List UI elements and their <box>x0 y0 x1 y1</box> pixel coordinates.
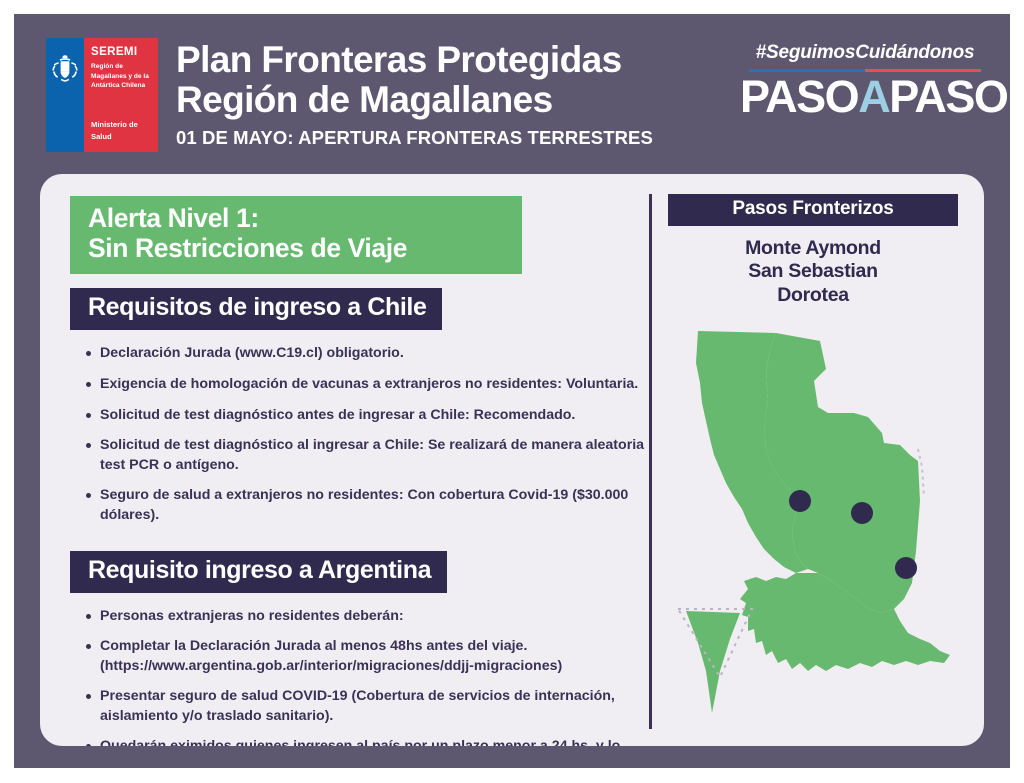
logo-ministry-name: Ministerio de Salud <box>91 119 159 142</box>
campaign-wordmark: PASOAPASO <box>740 74 990 119</box>
list-item: Presentar seguro de salud COVID-19 (Cobe… <box>86 687 646 726</box>
header: SEREMI Región de Magallanes y de la Antá… <box>14 14 1010 166</box>
logo-org-name: SEREMI <box>91 46 138 58</box>
list-item: Declaración Jurada (www.C19.cl) obligato… <box>86 344 646 364</box>
flag-blue-panel <box>46 38 84 152</box>
flag-red-panel: SEREMI Región de Magallanes y de la Antá… <box>84 38 158 152</box>
argentina-section-title: Requisito ingreso a Argentina <box>88 556 431 584</box>
crossings-header: Pasos Fronterizos <box>668 194 958 226</box>
marker-dorotea <box>895 557 917 579</box>
crossings-list: Monte Aymond San Sebastian Dorotea <box>668 237 958 307</box>
chile-section-header: Requisitos de ingreso a Chile <box>70 288 442 330</box>
list-item: Completar la Declaración Jurada al menos… <box>86 637 646 676</box>
list-item: Seguro de salud a extranjeros no residen… <box>86 486 646 525</box>
argentina-requirements-list: Personas extranjeras no residentes deber… <box>70 607 652 747</box>
list-item: Exigencia de homologación de vacunas a e… <box>86 375 646 395</box>
seremi-logo: SEREMI Región de Magallanes y de la Antá… <box>46 38 158 152</box>
title-block: Plan Fronteras Protegidas Región de Maga… <box>176 40 716 149</box>
alert-level-line1: Alerta Nivel 1: <box>88 204 522 234</box>
list-item: Personas extranjeras no residentes deber… <box>86 607 646 627</box>
map-region-shape <box>686 331 950 713</box>
page-title-line2: Región de Magallanes <box>176 80 716 120</box>
wordmark-paso-first: PASO <box>740 71 858 122</box>
list-item: Solicitud de test diagnóstico antes de i… <box>86 406 646 426</box>
column-divider <box>649 194 652 729</box>
page-title-line1: Plan Fronteras Protegidas <box>176 40 716 80</box>
poster: SEREMI Región de Magallanes y de la Antá… <box>14 14 1010 768</box>
campaign-brand: #SeguimosCuidándonos PASOAPASO <box>740 42 990 119</box>
logo-region-name: Región de Magallanes y de la Antártica C… <box>91 62 159 91</box>
content-card: Alerta Nivel 1: Sin Restricciones de Via… <box>40 174 984 746</box>
crossings-title: Pasos Fronterizos <box>732 198 893 219</box>
requirements-column: Alerta Nivel 1: Sin Restricciones de Via… <box>70 196 652 746</box>
crossings-column: Pasos Fronterizos Monte Aymond San Sebas… <box>668 194 958 741</box>
argentina-section-header: Requisito ingreso a Argentina <box>70 551 447 593</box>
marker-san-sebastian <box>851 502 873 524</box>
wordmark-paso-second: PASO <box>889 71 1007 122</box>
marker-monte-aymond <box>789 490 811 512</box>
alert-level-banner: Alerta Nivel 1: Sin Restricciones de Via… <box>70 196 522 274</box>
list-item: San Sebastian <box>668 260 958 283</box>
page-subtitle: 01 DE MAYO: APERTURA FRONTERAS TERRESTRE… <box>176 127 716 149</box>
list-item: Solicitud de test diagnóstico al ingresa… <box>86 436 646 475</box>
magallanes-map <box>668 321 958 741</box>
chile-section-title: Requisitos de ingreso a Chile <box>88 293 426 321</box>
map-graphic <box>668 321 958 741</box>
wordmark-a: A <box>858 71 889 122</box>
list-item: Dorotea <box>668 284 958 307</box>
list-item: Quedarán eximidos quienes ingresen al pa… <box>86 737 646 746</box>
alert-level-line2: Sin Restricciones de Viaje <box>88 234 522 264</box>
list-item: Monte Aymond <box>668 237 958 260</box>
chile-requirements-list: Declaración Jurada (www.C19.cl) obligato… <box>70 344 652 525</box>
campaign-hashtag: #SeguimosCuidándonos <box>740 42 990 64</box>
chile-coat-of-arms-icon <box>50 54 80 82</box>
